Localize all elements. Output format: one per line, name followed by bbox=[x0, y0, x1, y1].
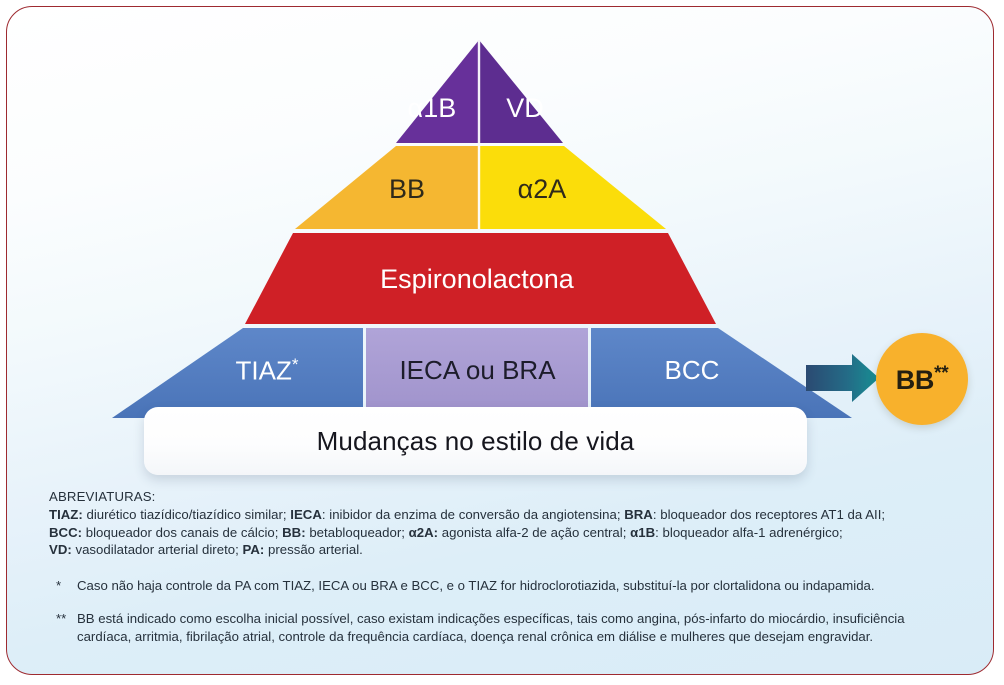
bb-callout-label: BB** bbox=[896, 363, 949, 396]
footnote-single-asterisk: * Caso não haja controle da PA com TIAZ,… bbox=[49, 577, 959, 595]
abbrev-term: PA: bbox=[242, 542, 264, 557]
abbrev-term: TIAZ: bbox=[49, 507, 83, 522]
footnote-1-marker: * bbox=[49, 577, 77, 595]
abbrev-definition: betabloqueador; bbox=[306, 525, 409, 540]
abbrev-definition: bloqueador dos canais de cálcio; bbox=[82, 525, 282, 540]
abbrev-definition: diurético tiazídico/tiazídico similar; bbox=[83, 507, 290, 522]
abbreviation-line: BCC: bloqueador dos canais de cálcio; BB… bbox=[49, 524, 959, 542]
footnote-double-asterisk: ** BB está indicado como escolha inicial… bbox=[49, 610, 959, 645]
footnote-2-text: BB está indicado como escolha inicial po… bbox=[77, 610, 959, 645]
bb-callout-asterisks: ** bbox=[934, 363, 948, 384]
pyramid-shape bbox=[7, 7, 994, 427]
lifestyle-banner: Mudanças no estilo de vida bbox=[144, 407, 807, 475]
abbrev-definition: : bloqueador dos receptores AT1 da AII; bbox=[653, 507, 885, 522]
lifestyle-label: Mudanças no estilo de vida bbox=[317, 426, 635, 457]
footnote-2-line-2: cardíaca, arritmia, fibrilação atrial, c… bbox=[77, 629, 873, 644]
abbreviation-line: TIAZ: diurético tiazídico/tiazídico simi… bbox=[49, 506, 959, 524]
bb-callout-text: BB bbox=[896, 365, 934, 395]
abbreviation-line: VD: vasodilatador arterial direto; PA: p… bbox=[49, 541, 959, 559]
footnote-1-text: Caso não haja controle da PA com TIAZ, I… bbox=[77, 577, 959, 595]
tier-apex-right bbox=[479, 40, 563, 143]
tier-apex-left bbox=[396, 40, 479, 143]
tier-third bbox=[245, 233, 716, 324]
tier-base-left bbox=[112, 328, 363, 418]
abbrev-term: α2A: bbox=[409, 525, 438, 540]
tier-second-left bbox=[295, 146, 479, 229]
footnote-2-line-1: BB está indicado como escolha inicial po… bbox=[77, 611, 905, 626]
abbreviations-title: ABREVIATURAS: bbox=[49, 489, 959, 504]
abbrev-term: α1B bbox=[630, 525, 655, 540]
abbrev-definition: vasodilatador arterial direto; bbox=[72, 542, 243, 557]
notes-section: ABREVIATURAS: TIAZ: diurético tiazídico/… bbox=[49, 489, 959, 645]
abbrev-definition: : inibidor da enzima de conversão da ang… bbox=[322, 507, 624, 522]
abbrev-term: BCC: bbox=[49, 525, 82, 540]
tier-second-right bbox=[479, 146, 666, 229]
treatment-pyramid: α1B VD BB α2A Espironolactona TIAZ* IECA… bbox=[7, 7, 994, 427]
abbrev-term: VD: bbox=[49, 542, 72, 557]
abbrev-definition: : bloqueador alfa-1 adrenérgico; bbox=[655, 525, 843, 540]
abbrev-definition: agonista alfa-2 de ação central; bbox=[438, 525, 630, 540]
bb-callout-circle: BB** bbox=[876, 333, 968, 425]
footnote-2-marker: ** bbox=[49, 610, 77, 645]
abbrev-term: IECA bbox=[290, 507, 322, 522]
abbrev-definition: pressão arterial. bbox=[264, 542, 363, 557]
abbrev-term: BRA bbox=[624, 507, 653, 522]
infographic-card: α1B VD BB α2A Espironolactona TIAZ* IECA… bbox=[6, 6, 994, 675]
tier-base-center bbox=[366, 328, 588, 418]
abbrev-term: BB: bbox=[282, 525, 306, 540]
